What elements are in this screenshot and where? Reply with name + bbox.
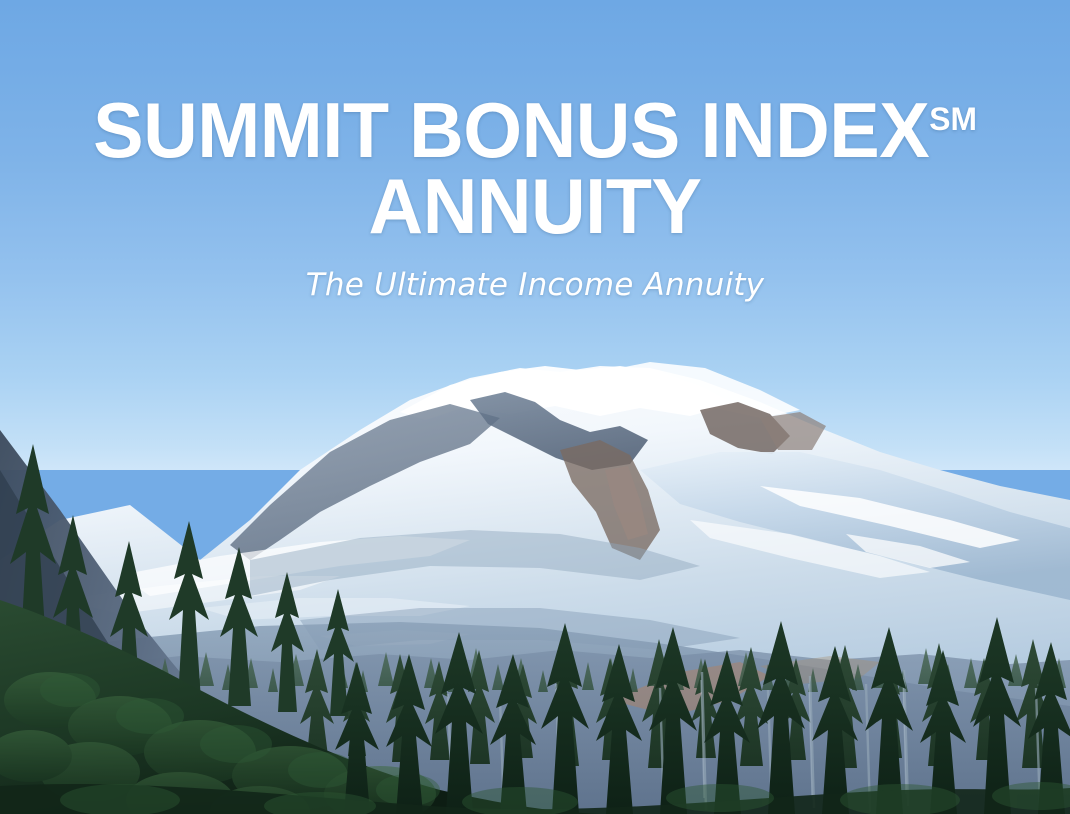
forest-scene — [0, 0, 1070, 814]
title-slide: SUMMIT BONUS INDEXSMANNUITY The Ultimate… — [0, 0, 1070, 814]
forest-illustration — [0, 0, 1070, 814]
